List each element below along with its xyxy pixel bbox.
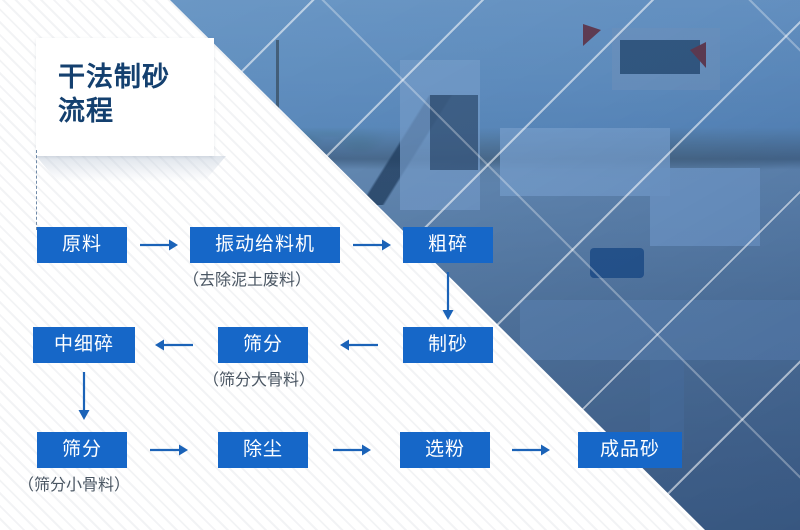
infographic-canvas: 干法制砂 流程 原料振动给料机粗碎（去除泥土废料）中细碎筛分制砂（筛分大骨料）筛…: [0, 0, 800, 530]
flow-box-powder-separation[interactable]: 选粉: [400, 432, 490, 468]
arrow-feeder-to-coarse-icon: [353, 236, 391, 254]
flow-box-medium-fine-crushing[interactable]: 中细碎: [33, 327, 135, 363]
page-title: 干法制砂 流程: [58, 60, 204, 128]
arrow-coarse-to-sandmaking-icon: [439, 272, 457, 320]
arrow-powder-to-finished-icon: [512, 441, 550, 459]
dashed-guide-line: [36, 150, 37, 230]
flow-box-coarse-crushing[interactable]: 粗碎: [403, 227, 493, 263]
flow-box-sand-making[interactable]: 制砂: [403, 327, 493, 363]
title-card: 干法制砂 流程: [36, 38, 214, 156]
flow-box-raw-material[interactable]: 原料: [37, 227, 127, 263]
arrow-screen-to-dust-icon: [150, 441, 188, 459]
title-card-fold-shadow: [36, 156, 226, 182]
flow-box-vibrating-feeder[interactable]: 振动给料机: [190, 227, 340, 263]
flow-box-screening-large[interactable]: 筛分: [218, 327, 308, 363]
arrow-raw-to-feeder-icon: [140, 236, 178, 254]
arrow-dust-to-powder-icon: [333, 441, 371, 459]
arrow-sandmaking-to-screen-icon: [340, 336, 378, 354]
flow-box-dust-removal[interactable]: 除尘: [218, 432, 308, 468]
flow-note-note-screen-fine-aggregate: （筛分小骨料）: [18, 477, 130, 495]
arrow-screen-to-medium-icon: [155, 336, 193, 354]
flow-box-finished-sand[interactable]: 成品砂: [578, 432, 682, 468]
arrow-medium-to-screening-icon: [75, 372, 93, 420]
flow-box-screening-small[interactable]: 筛分: [37, 432, 127, 468]
flow-note-note-screen-coarse-aggregate: （筛分大骨料）: [203, 372, 315, 390]
flow-note-note-remove-mud-waste: （去除泥土废料）: [183, 272, 311, 290]
